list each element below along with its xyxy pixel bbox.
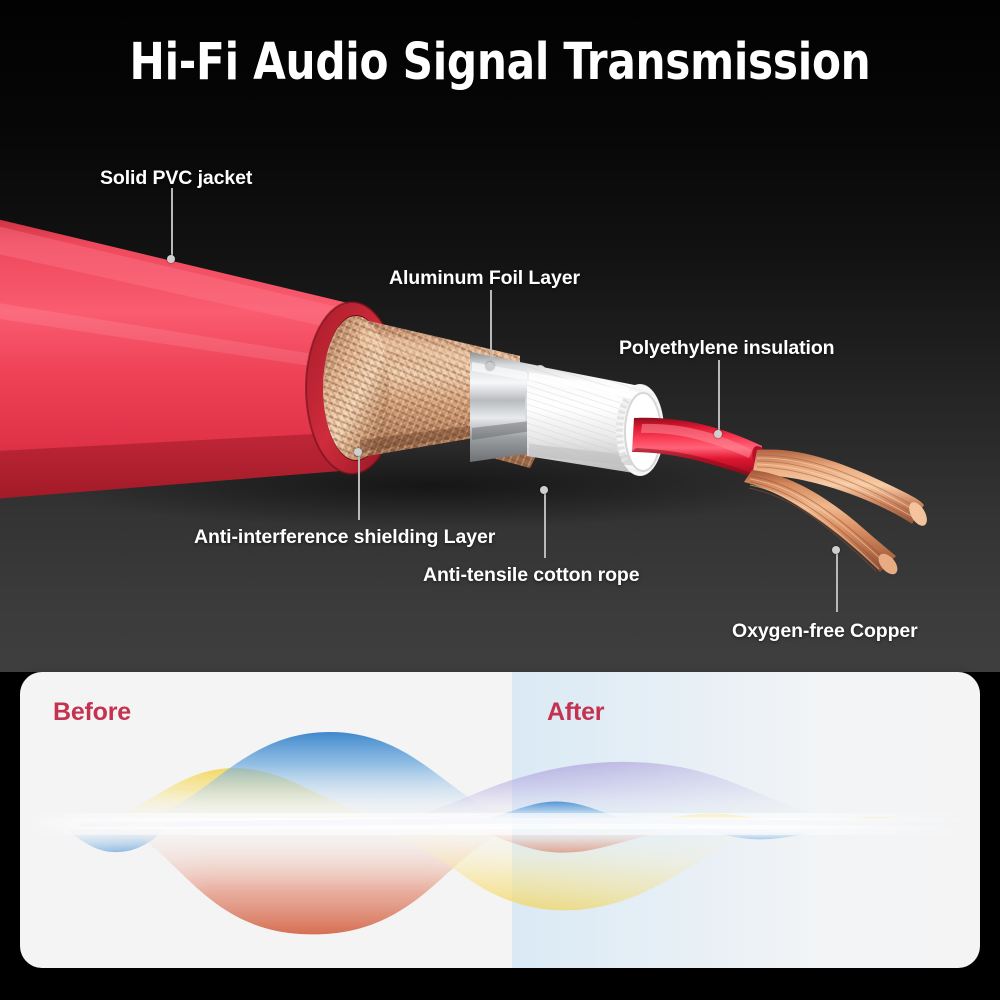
hero-section: Hi-Fi Audio Signal Transmission <box>0 0 1000 672</box>
leader-dot-aluminum-foil <box>486 362 494 370</box>
leader-line-shielding <box>358 456 360 520</box>
leader-dot-polyethylene <box>714 430 722 438</box>
callout-label-shielding: Anti-interference shielding Layer <box>194 526 495 549</box>
leader-dot-cotton-rope <box>540 486 548 494</box>
callout-label-cotton-rope: Anti-tensile cotton rope <box>423 564 639 587</box>
callout-label-polyethylene: Polyethylene insulation <box>619 337 835 360</box>
waveform-chart <box>20 672 980 968</box>
leader-line-polyethylene <box>718 360 720 434</box>
leader-line-pvc-jacket <box>171 188 173 260</box>
callout-label-ofc-copper: Oxygen-free Copper <box>732 620 918 643</box>
callout-label-pvc-jacket: Solid PVC jacket <box>100 167 252 190</box>
leader-line-ofc-copper <box>836 554 838 612</box>
after-label: After <box>547 698 604 727</box>
leader-dot-shielding <box>354 448 362 456</box>
leader-line-aluminum-foil <box>490 290 492 366</box>
leader-line-cotton-rope <box>544 494 546 558</box>
leader-dot-ofc-copper <box>832 546 840 554</box>
before-label: Before <box>53 698 131 727</box>
callout-label-aluminum-foil: Aluminum Foil Layer <box>389 267 580 290</box>
signal-comparison-panel: Before After <box>20 672 980 968</box>
product-infographic: Hi-Fi Audio Signal Transmission <box>0 0 1000 1000</box>
leader-dot-pvc-jacket <box>167 255 175 263</box>
